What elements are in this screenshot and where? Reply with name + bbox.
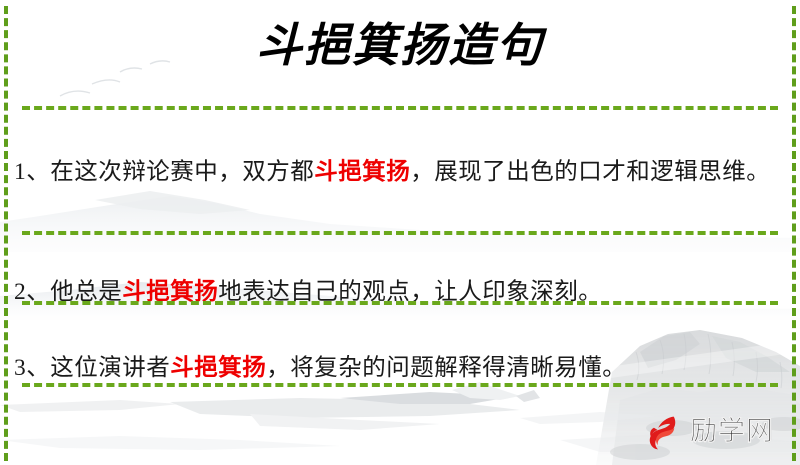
site-logo[interactable]: 励学网: [643, 409, 774, 453]
sentence-item: 1、在这次辩论赛中，双方都斗挹箕扬，展现了出色的口才和逻辑思维。: [14, 154, 786, 190]
divider-below-title: [22, 106, 778, 110]
idiom-keyword: 斗挹箕扬: [170, 355, 266, 381]
sentence-text-lead: 他总是: [50, 279, 122, 305]
poster-page: 斗挹箕扬造句 1、在这次辩论赛中，双方都斗挹箕扬，展现了出色的口才和逻辑思维。 …: [0, 0, 800, 465]
site-logo-text: 励学网: [690, 418, 774, 445]
sentence-item: 2、他总是斗挹箕扬地表达自己的观点，让人印象深刻。: [14, 274, 786, 310]
divider-after-sentence-1: [22, 231, 778, 235]
frame-right-dashed-border: [792, 6, 796, 461]
sentence-text-tail: ，将复杂的问题解释得清晰易懂。: [266, 355, 626, 381]
sentence-index: 1、: [14, 159, 50, 185]
sentence-text-tail: ，展现了出色的口才和逻辑思维。: [410, 159, 770, 185]
page-title: 斗挹箕扬造句: [0, 18, 800, 73]
idiom-keyword: 斗挹箕扬: [122, 279, 218, 305]
frame-left-dashed-border: [4, 6, 8, 461]
sentence-text-lead: 这位演讲者: [50, 355, 170, 381]
flame-swirl-icon: [643, 411, 683, 451]
sentence-text-lead: 在这次辩论赛中，双方都: [50, 159, 314, 185]
sentence-item: 3、这位演讲者斗挹箕扬，将复杂的问题解释得清晰易懂。: [14, 350, 786, 386]
idiom-keyword: 斗挹箕扬: [314, 159, 410, 185]
sentence-text-tail: 地表达自己的观点，让人印象深刻。: [218, 279, 602, 305]
sentence-index: 3、: [14, 355, 50, 381]
sentence-index: 2、: [14, 279, 50, 305]
